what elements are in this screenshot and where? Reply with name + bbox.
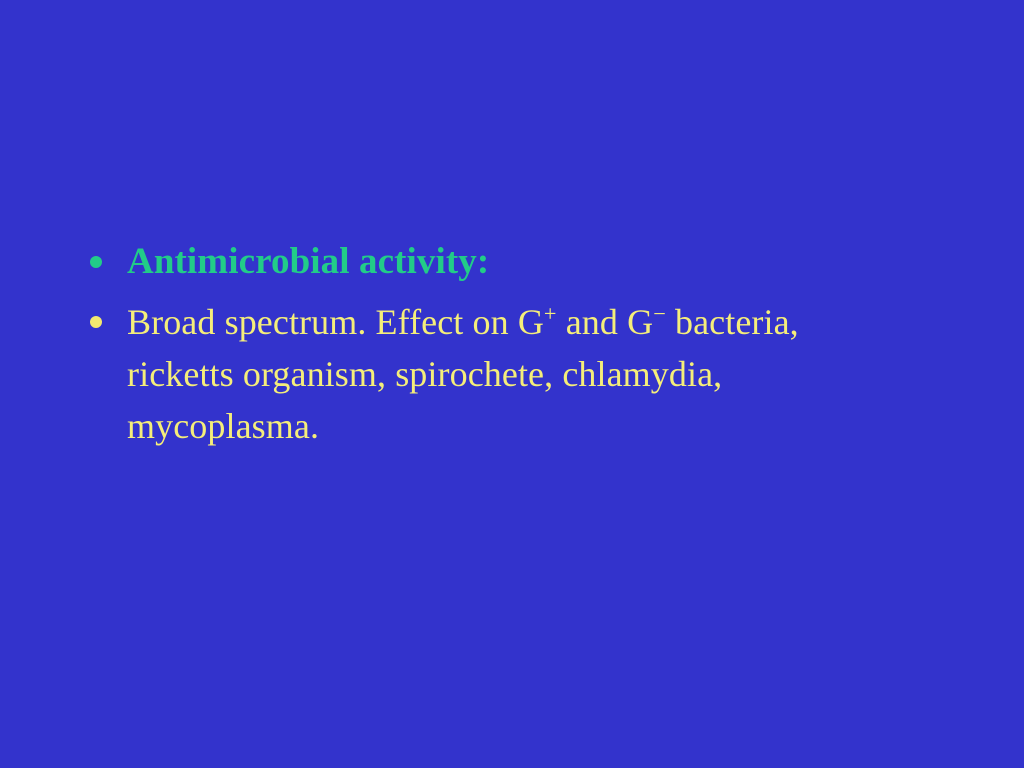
body-text-part-1: Broad spectrum. Effect on G bbox=[127, 302, 544, 342]
bullet-item-spectrum-description: Broad spectrum. Effect on G+ and G− bact… bbox=[86, 296, 846, 452]
bullet-heading-text: Antimicrobial activity: bbox=[127, 236, 946, 288]
bullet-body-text: Broad spectrum. Effect on G+ and G− bact… bbox=[127, 296, 846, 452]
slide-canvas: Antimicrobial activity: Broad spectrum. … bbox=[0, 0, 1024, 768]
superscript-minus: − bbox=[653, 301, 666, 326]
bullet-item-antimicrobial-activity: Antimicrobial activity: bbox=[86, 236, 946, 288]
superscript-plus: + bbox=[544, 301, 557, 326]
bullet-dot-green-icon bbox=[90, 256, 102, 268]
slide-body-content: Antimicrobial activity: Broad spectrum. … bbox=[86, 236, 946, 452]
bullet-dot-yellow-icon bbox=[90, 316, 102, 328]
body-text-part-2: and G bbox=[557, 302, 654, 342]
